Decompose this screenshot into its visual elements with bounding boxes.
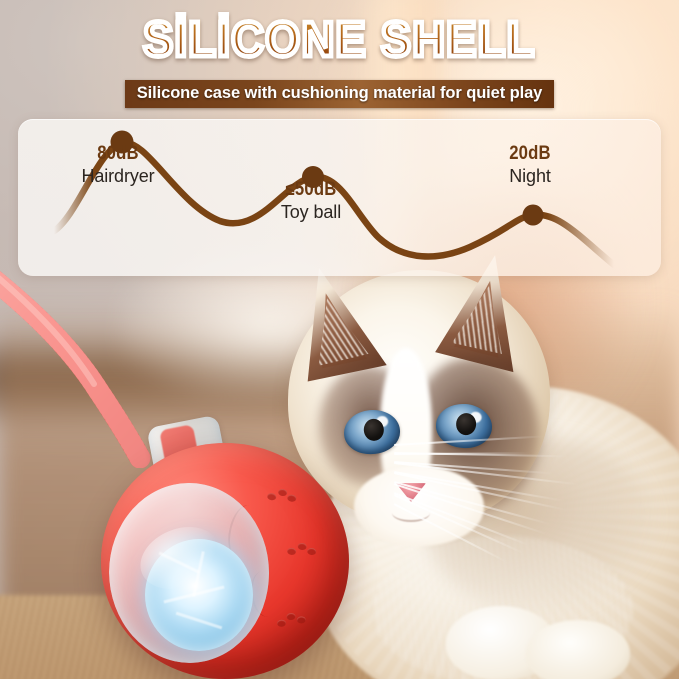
cat-toy-ball (101, 421, 352, 679)
db-value-hairdryer: 80dB (61, 143, 175, 165)
toy-paw-emboss (276, 610, 308, 636)
toy-paw-emboss (265, 485, 299, 514)
page-title: SİLİCONE SHELL (143, 16, 536, 65)
label-hairdryer: 80dB Hairdryer (53, 143, 183, 187)
db-value-night: 20dB (473, 143, 587, 165)
label-toy-ball: ≤50dB Toy ball (246, 179, 376, 223)
datapoint-night (523, 205, 544, 226)
db-value-toy-ball: ≤50dB (254, 179, 368, 201)
cat-whiskers (394, 450, 624, 600)
source-name-hairdryer: Hairdryer (53, 166, 183, 187)
label-night: 20dB Night (465, 143, 595, 187)
noise-comparison-panel: 80dB Hairdryer ≤50dB Toy ball 20dB Night (18, 119, 661, 276)
headline-block: SİLİCONE SHELL (0, 16, 679, 65)
subtitle-block: Silicone case with cushioning material f… (0, 80, 679, 108)
source-name-toy-ball: Toy ball (246, 202, 376, 223)
cat-paw-right (526, 620, 630, 679)
subtitle-banner: Silicone case with cushioning material f… (125, 80, 554, 108)
toy-paw-emboss (286, 539, 318, 566)
source-name-night: Night (465, 166, 595, 187)
product-marketing-image: SİLİCONE SHELL Silicone case with cushio… (0, 0, 679, 679)
toy-clear-window (109, 483, 269, 663)
